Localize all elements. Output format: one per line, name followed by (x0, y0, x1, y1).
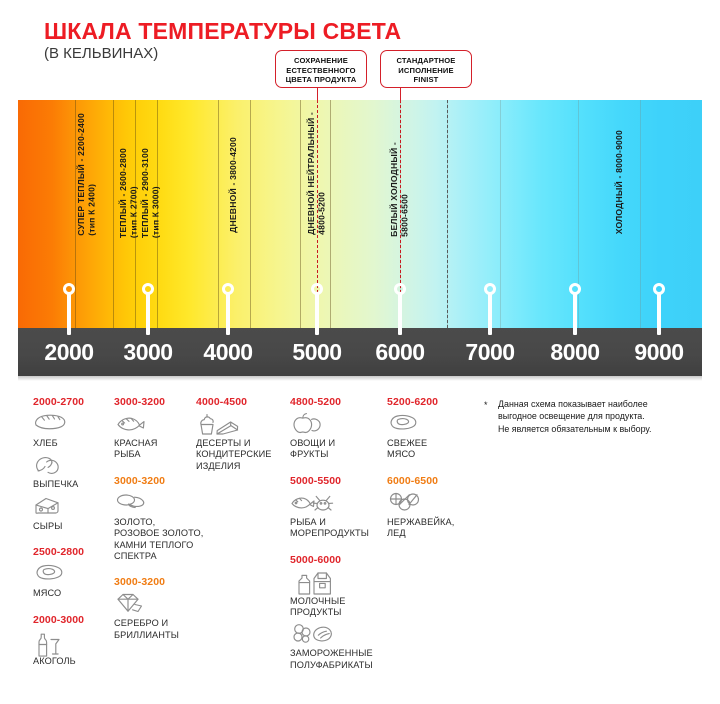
band-separator (300, 100, 301, 328)
legend-column-2: 4000-4500ДЕСЕРТЫ И КОНДИТЕРСКИЕ ИЗДЕЛИЯ (196, 396, 291, 486)
legend-item-label: ЗОЛОТО, РОЗОВОЕ ЗОЛОТО, КАМНИ ТЕПЛОГО СП… (114, 517, 209, 563)
legend-item-label: СЕРЕБРО И БРИЛЛИАНТЫ (114, 618, 209, 641)
legend-item-label: РЫБА И МОРЕПРОДУКТЫ (290, 517, 385, 540)
band-separator (640, 100, 641, 328)
group-6000-6500: 6000-6500НЕРЖАВЕЙКА, ЛЕД (387, 475, 482, 540)
legend-item: СВЕЖЕЕ МЯСО (387, 412, 482, 461)
scale-number-3000: 3000 (108, 339, 188, 366)
band-separator (500, 100, 501, 328)
group-4000-4500: 4000-4500ДЕСЕРТЫ И КОНДИТЕРСКИЕ ИЗДЕЛИЯ (196, 396, 291, 472)
legend-range-label: 3000-3200 (114, 475, 209, 487)
legend-column-4: 5200-6200СВЕЖЕЕ МЯСО6000-6500НЕРЖАВЕЙКА,… (387, 396, 482, 554)
legend: 2000-2700ХЛЕБВЫПЕЧКАСЫРЫ2500-2800МЯСО200… (0, 396, 720, 696)
group-5000-5500: 5000-5500РЫБА И МОРЕПРОДУКТЫ (290, 475, 385, 540)
band-separator (330, 100, 331, 328)
diamond-icon (114, 592, 209, 618)
band-super-warm: СУПЕР ТЕПЛЫЙ - 2200-2400 (тип К 2400) (76, 113, 97, 236)
legend-column-1: 3000-3200КРАСНАЯ РЫБА3000-3200ЗОЛОТО, РО… (114, 396, 209, 655)
legend-range-label: 5200-6200 (387, 396, 482, 408)
legend-range-label: 4800-5200 (290, 396, 385, 408)
legend-item: РЫБА И МОРЕПРОДУКТЫ (290, 491, 385, 540)
legend-note: * Данная схема показывает наиболее выгод… (484, 398, 712, 435)
legend-item: СЕРЕБРО И БРИЛЛИАНТЫ (114, 592, 209, 641)
group-5000-6000: 5000-6000МОЛОЧНЫЕ ПРОДУКТЫЗАМОРОЖЕННЫЕ П… (290, 554, 385, 672)
band-separator (218, 100, 219, 328)
legend-range-label: 4000-4500 (196, 396, 291, 408)
seafood-icon (290, 491, 385, 517)
band-separator (250, 100, 251, 328)
legend-item: ДЕСЕРТЫ И КОНДИТЕРСКИЕ ИЗДЕЛИЯ (196, 412, 291, 472)
dashed-line-gray (447, 100, 448, 328)
page-subtitle: (В КЕЛЬВИНАХ) (44, 45, 158, 62)
band-daylight: ДНЕВНОЙ - 3800-4200 (228, 137, 239, 233)
group-5200-6200: 5200-6200СВЕЖЕЕ МЯСО (387, 396, 482, 461)
scale-number-4000: 4000 (188, 339, 268, 366)
dessert-icon (196, 412, 291, 438)
band-warm-3000: ТЕПЛЫЙ - 2900-3100 (тип К 3000) (140, 148, 161, 238)
scale-number-7000: 7000 (450, 339, 530, 366)
vegetables-icon (290, 412, 385, 438)
legend-item: НЕРЖАВЕЙКА, ЛЕД (387, 491, 482, 540)
callout-natural-color: СОХРАНЕНИЕ ЕСТЕСТВЕННОГО ЦВЕТА ПРОДУКТА (275, 50, 367, 88)
group-3000-3200-gold: 3000-3200ЗОЛОТО, РОЗОВОЕ ЗОЛОТО, КАМНИ Т… (114, 475, 209, 563)
legend-item-label: НЕРЖАВЕЙКА, ЛЕД (387, 517, 482, 540)
callout-finist-standard-stem (400, 88, 401, 102)
rings-icon (114, 491, 209, 517)
legend-range-label: 5000-5500 (290, 475, 385, 487)
callout-finist-standard: СТАНДАРТНОЕ ИСПОЛНЕНИЕ FINIST (380, 50, 472, 88)
legend-item: ОВОЩИ И ФРУКТЫ (290, 412, 385, 461)
legend-item: МОЛОЧНЫЕ ПРОДУКТЫ (290, 570, 385, 619)
legend-range-label: 3000-3200 (114, 576, 209, 588)
legend-item-label: ОВОЩИ И ФРУКТЫ (290, 438, 385, 461)
scale-number-5000: 5000 (277, 339, 357, 366)
legend-item: КРАСНАЯ РЫБА (114, 412, 209, 461)
callout-natural-color-stem (317, 88, 318, 102)
legend-item-label: МОЛОЧНЫЕ ПРОДУКТЫ (290, 596, 385, 619)
fresh-meat-icon (387, 412, 482, 438)
dairy-icon (290, 570, 385, 596)
band-warm-2700: ТЕПЛЫЙ - 2600-2800 (тип К 2700) (118, 148, 139, 238)
scale-number-2000: 2000 (29, 339, 109, 366)
group-3000-3200-fish: 3000-3200КРАСНАЯ РЫБА (114, 396, 209, 461)
band-cold: ХОЛОДНЫЙ - 8000-9000 (614, 130, 625, 234)
legend-item-label: АКОГОЛЬ (33, 656, 128, 667)
legend-column-3: 4800-5200ОВОЩИ И ФРУКТЫ5000-5500РЫБА И М… (290, 396, 385, 685)
legend-item-label: СВЕЖЕЕ МЯСО (387, 438, 482, 461)
stainless-ice-icon (387, 491, 482, 517)
page-title: ШКАЛА ТЕМПЕРАТУРЫ СВЕТА (44, 18, 401, 45)
legend-item-label: ДЕСЕРТЫ И КОНДИТЕРСКИЕ ИЗДЕЛИЯ (196, 438, 291, 472)
legend-item: ЗОЛОТО, РОЗОВОЕ ЗОЛОТО, КАМНИ ТЕПЛОГО СП… (114, 491, 209, 563)
legend-range-label: 3000-3200 (114, 396, 209, 408)
note-text: Данная схема показывает наиболее выгодно… (498, 398, 712, 435)
frozen-icon (290, 622, 385, 648)
band-separator (113, 100, 114, 328)
scale-number-9000: 9000 (619, 339, 699, 366)
temperature-scale: СУПЕР ТЕПЛЫЙ - 2200-2400 (тип К 2400)ТЕП… (18, 100, 702, 385)
scale-number-8000: 8000 (535, 339, 615, 366)
scale-number-6000: 6000 (360, 339, 440, 366)
group-3000-3200-silver: 3000-3200СЕРЕБРО И БРИЛЛИАНТЫ (114, 576, 209, 641)
legend-item: ЗАМОРОЖЕННЫЕ ПОЛУФАБРИКАТЫ (290, 622, 385, 671)
group-4800-5200: 4800-5200ОВОЩИ И ФРУКТЫ (290, 396, 385, 461)
legend-range-label: 6000-6500 (387, 475, 482, 487)
legend-range-label: 5000-6000 (290, 554, 385, 566)
legend-item-label: ЗАМОРОЖЕННЫЕ ПОЛУФАБРИКАТЫ (290, 648, 385, 671)
fish-icon (114, 412, 209, 438)
note-star: * (484, 399, 488, 411)
legend-item-label: КРАСНАЯ РЫБА (114, 438, 209, 461)
